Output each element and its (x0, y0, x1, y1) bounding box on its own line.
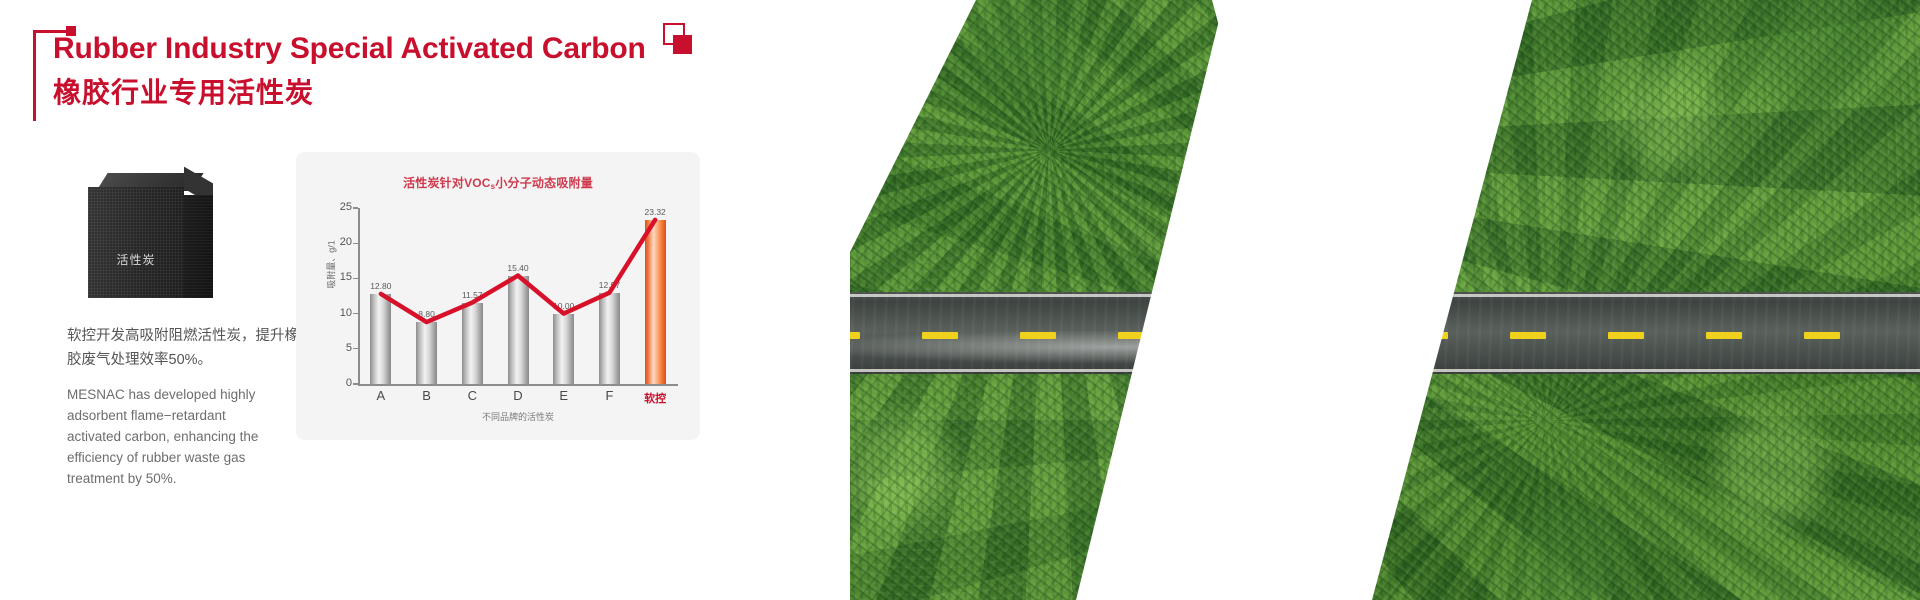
x-axis-title: 不同品牌的活性炭 (358, 410, 678, 423)
y-tick-label: 10 (332, 308, 352, 319)
x-tick-label: A (361, 388, 401, 403)
two-squares-mark-icon (659, 23, 699, 59)
x-tick-label: F (589, 388, 629, 403)
road-dash (922, 332, 958, 339)
carbon-block-front-face (88, 187, 184, 298)
x-tick-label: 软控 (635, 390, 675, 406)
carbon-block-label: 活性炭 (88, 251, 184, 268)
y-tick-label: 5 (332, 343, 352, 354)
forest-road-photo (676, 0, 1920, 600)
description-cn: 软控开发高吸附阻燃活性炭，提升橡胶废气处理效率50%。 (67, 325, 307, 373)
banner-stage: Rubber Industry Special Activated Carbon… (0, 0, 1920, 600)
x-axis-line (358, 384, 678, 386)
x-tick-label: D (498, 388, 538, 403)
y-tick-label: 20 (332, 237, 352, 248)
square-filled-icon (673, 35, 692, 54)
left-content-panel: Rubber Industry Special Activated Carbon… (0, 0, 850, 600)
x-tick-label: B (407, 388, 447, 403)
road-dash (1804, 332, 1840, 339)
y-axis-label: 吸附量、g/1 (325, 210, 338, 320)
page-title-en: Rubber Industry Special Activated Carbon (53, 32, 646, 65)
description-en: MESNAC has developed highly adsorbent fl… (67, 385, 282, 490)
white-triangle-right (1212, 0, 1532, 600)
chart-title-tail: 小分子动态吸附量 (495, 176, 593, 190)
carbon-block-side-face (184, 195, 213, 298)
trend-line-overlay (358, 208, 678, 384)
chart-title: 活性炭针对VOCs小分子动态吸附量 (296, 174, 700, 191)
y-tick-label: 15 (332, 272, 352, 283)
y-tick-label: 0 (332, 378, 352, 389)
page-title-cn: 橡胶行业专用活性炭 (53, 76, 314, 110)
x-tick-label: C (452, 388, 492, 403)
trend-polyline (381, 220, 655, 322)
road-dash (1608, 332, 1644, 339)
activated-carbon-block-image: 活性炭 (88, 173, 213, 298)
road-dash (1706, 332, 1742, 339)
chart-card: 活性炭针对VOCs小分子动态吸附量 吸附量、g/1 0510152025 12.… (296, 152, 700, 440)
y-tick-label: 25 (332, 202, 352, 213)
chart-title-main: 活性炭针对VOC (403, 176, 491, 190)
road-dash (1020, 332, 1056, 339)
chart-plot-area: 0510152025 12.808.8011.5715.4010.0012.97… (358, 208, 678, 384)
x-tick-label: E (544, 388, 584, 403)
